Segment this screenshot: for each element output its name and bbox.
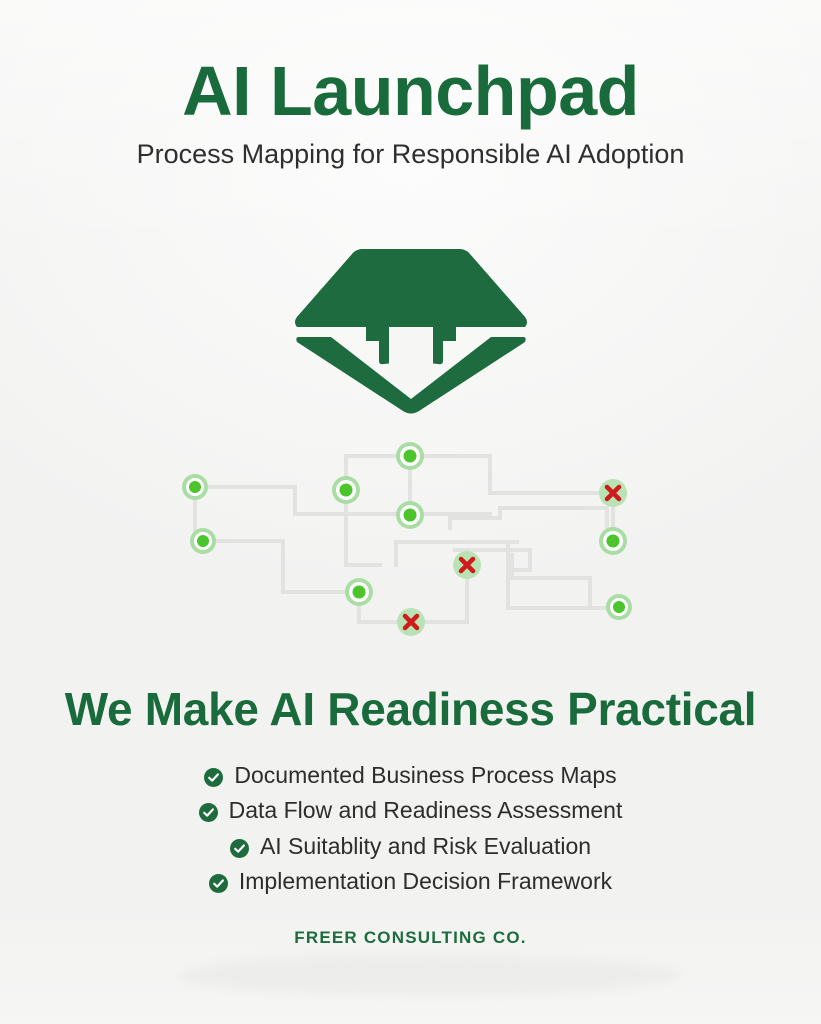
page-subtitle: Process Mapping for Responsible AI Adopt… — [0, 140, 821, 170]
node-blocked[interactable] — [397, 608, 425, 636]
list-item-label: Documented Business Process Maps — [234, 762, 616, 788]
check-circle-icon — [199, 801, 218, 820]
launchpad-logo-icon — [291, 243, 531, 415]
list-item: AI Suitablity and Risk Evaluation — [230, 833, 591, 859]
node-map-svg — [0, 430, 821, 650]
headline: We Make AI Readiness Practical — [0, 682, 821, 736]
connector-lines — [195, 456, 619, 622]
node-ok[interactable] — [332, 476, 360, 504]
company-name: FREER CONSULTING CO. — [0, 928, 821, 948]
list-item: Data Flow and Readiness Assessment — [199, 797, 623, 823]
benefits-list: Documented Business Process Maps Data Fl… — [0, 762, 821, 895]
check-circle-icon — [204, 766, 223, 785]
node-ok[interactable] — [606, 594, 632, 620]
node-ok[interactable] — [190, 528, 216, 554]
node-ok[interactable] — [599, 527, 627, 555]
background-smudge — [180, 955, 680, 995]
check-circle-icon — [209, 872, 228, 891]
list-item-label: Implementation Decision Framework — [239, 868, 612, 894]
poster-canvas: AI Launchpad Process Mapping for Respons… — [0, 0, 821, 1024]
node-ok[interactable] — [182, 474, 208, 500]
check-circle-icon — [230, 837, 249, 856]
node-ok[interactable] — [396, 501, 424, 529]
list-item: Documented Business Process Maps — [204, 762, 616, 788]
node-blocked[interactable] — [599, 479, 627, 507]
list-item-label: AI Suitablity and Risk Evaluation — [260, 833, 591, 859]
node-blocked[interactable] — [453, 551, 481, 579]
list-item-label: Data Flow and Readiness Assessment — [229, 797, 623, 823]
logo-container — [0, 243, 821, 415]
poster-header: AI Launchpad Process Mapping for Respons… — [0, 56, 821, 170]
node-ok[interactable] — [345, 578, 373, 606]
list-item: Implementation Decision Framework — [209, 868, 612, 894]
node-ok[interactable] — [396, 442, 424, 470]
process-node-map — [0, 430, 821, 650]
page-title: AI Launchpad — [0, 56, 821, 126]
